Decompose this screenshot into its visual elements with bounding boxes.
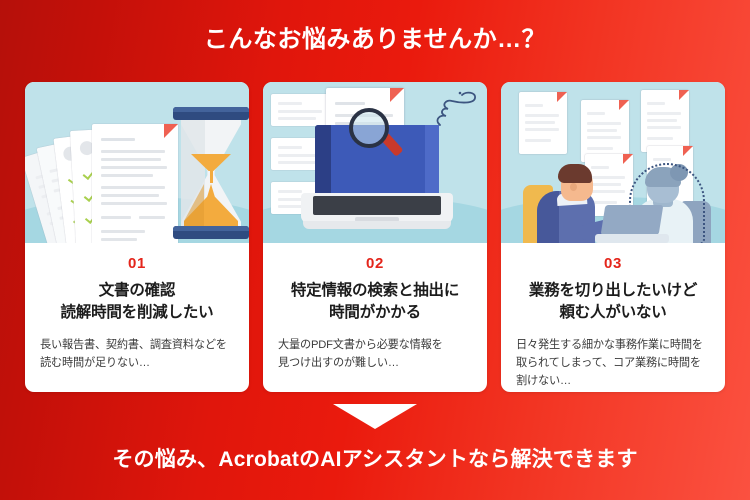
card-number: 03	[516, 256, 710, 273]
hourglass-icon	[173, 107, 249, 239]
card-body: 03 業務を切り出したいけど 頼む人がいない 日々発生する細かな事務作業に時間を…	[501, 243, 725, 392]
card-description: 大量のPDF文書から必要な情報を 見つけ出すのが難しい…	[278, 336, 472, 372]
card-title: 特定情報の検索と抽出に 時間がかかる	[278, 280, 472, 324]
page-title: こんなお悩みありませんか…？	[0, 26, 750, 55]
problem-card-03[interactable]: 03 業務を切り出したいけど 頼む人がいない 日々発生する細かな事務作業に時間を…	[501, 82, 725, 392]
problem-cards-row: 01 文書の確認 読解時間を削減したい 長い報告書、契約書、調査資料などを 読む…	[25, 82, 725, 392]
red-corner-marker	[390, 88, 404, 102]
problem-card-02[interactable]: 02 特定情報の検索と抽出に 時間がかかる 大量のPDF文書から必要な情報を 見…	[263, 82, 487, 392]
problem-card-01[interactable]: 01 文書の確認 読解時間を削減したい 長い報告書、契約書、調査資料などを 読む…	[25, 82, 249, 392]
footer-tagline: その悩み、AcrobatのAIアシスタントなら解決できます	[0, 443, 750, 473]
down-arrow-icon	[333, 404, 417, 429]
magnifying-glass-icon	[349, 108, 403, 162]
card-body: 01 文書の確認 読解時間を削減したい 長い報告書、契約書、調査資料などを 読む…	[25, 243, 249, 392]
illustration-laptop-search	[263, 82, 487, 243]
document-stack-icon	[35, 122, 185, 242]
illustration-two-people	[501, 82, 725, 243]
card-title: 文書の確認 読解時間を削減したい	[40, 280, 234, 324]
card-description: 日々発生する細かな事務作業に時間を 取られてしまって、コア業務に時間を 割けない…	[516, 336, 710, 390]
person-ghost-figure	[615, 159, 711, 243]
paper-sheet-front	[92, 124, 178, 243]
card-title: 業務を切り出したいけど 頼む人がいない	[516, 280, 710, 324]
laptop-small-icon	[595, 207, 669, 243]
card-description: 長い報告書、契約書、調査資料などを 読む時間が足りない…	[40, 336, 234, 372]
illustration-documents-hourglass	[25, 82, 249, 243]
card-number: 01	[40, 256, 234, 273]
card-body: 02 特定情報の検索と抽出に 時間がかかる 大量のPDF文書から必要な情報を 見…	[263, 243, 487, 392]
scribble-doodle-icon	[434, 90, 480, 132]
promo-banner: こんなお悩みありませんか…？	[0, 0, 750, 500]
card-number: 02	[278, 256, 472, 273]
